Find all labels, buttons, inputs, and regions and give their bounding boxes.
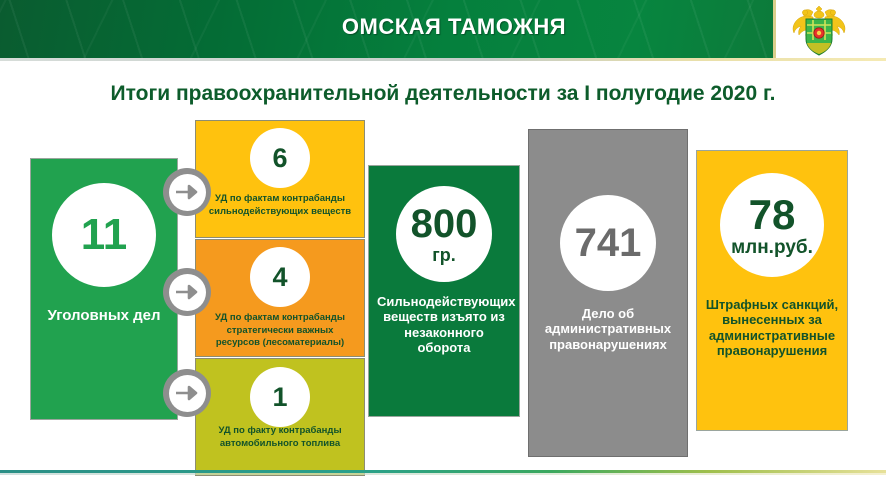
stat-value-administrative-cases: 741: [575, 223, 642, 263]
stat-card-criminal-cases: 11 Уголовных дел: [30, 158, 178, 420]
stat-value-strategic-resources: 4: [272, 264, 287, 291]
arrow-badge-inner: [169, 174, 206, 211]
stat-caption-potent-substances: УД по фактам контрабанды сильнодействующ…: [204, 193, 356, 218]
stat-card-administrative-cases: 741 Дело об административных правонаруше…: [528, 129, 688, 457]
stat-unit-fines: млн.руб.: [731, 238, 813, 257]
russian-customs-emblem-icon: [786, 2, 852, 60]
header-divider: [0, 58, 886, 61]
stat-card-seized-substances: 800 гр. Сильнодействующих веществ изъято…: [368, 165, 520, 417]
stat-card-vehicle-fuel: 1 УД по факту контрабанды автомобильного…: [195, 358, 365, 476]
stat-circle-vehicle-fuel: 1: [250, 367, 310, 427]
stat-caption-criminal-cases: Уголовных дел: [39, 307, 169, 325]
stat-circle-fines: 78 млн.руб.: [720, 173, 824, 277]
stat-card-potent-substances: 6 УД по фактам контрабанды сильнодейству…: [195, 120, 365, 238]
arrow-right-icon: [163, 369, 211, 417]
stat-value-criminal-cases: 11: [81, 213, 128, 257]
page-title: ОМСКАЯ ТАМОЖНЯ: [0, 14, 886, 40]
stat-caption-administrative-cases: Дело об административных правонарушениях: [537, 306, 679, 352]
arrow-badge-inner: [169, 375, 206, 412]
stat-circle-strategic-resources: 4: [250, 247, 310, 307]
stat-value-fines: 78: [749, 194, 796, 236]
stat-circle-criminal-cases: 11: [52, 183, 156, 287]
stat-caption-fines: Штрафных санкций, вынесенных за админист…: [705, 297, 839, 358]
footer-divider-secondary: [0, 473, 886, 475]
stat-value-vehicle-fuel: 1: [272, 384, 287, 411]
stat-value-seized-substances: 800: [411, 204, 478, 244]
stat-caption-vehicle-fuel: УД по факту контрабанды автомобильного т…: [204, 425, 356, 450]
report-subtitle: Итоги правоохранительной деятельности за…: [0, 82, 886, 106]
arrow-right-icon: [163, 268, 211, 316]
page-header: ОМСКАЯ ТАМОЖНЯ: [0, 0, 886, 62]
stat-unit-seized-substances: гр.: [432, 246, 456, 264]
stat-caption-strategic-resources: УД по фактам контрабанды стратегически в…: [204, 312, 356, 350]
stat-circle-seized-substances: 800 гр.: [396, 186, 492, 282]
stat-value-potent-substances: 6: [272, 145, 287, 172]
stat-circle-administrative-cases: 741: [560, 195, 656, 291]
stat-caption-seized-substances: Сильнодействующих веществ изъято из неза…: [377, 294, 511, 355]
arrow-right-icon: [163, 168, 211, 216]
arrow-badge-inner: [169, 274, 206, 311]
stat-card-strategic-resources: 4 УД по фактам контрабанды стратегически…: [195, 239, 365, 357]
stat-card-fines: 78 млн.руб. Штрафных санкций, вынесенных…: [696, 150, 848, 431]
stat-circle-potent-substances: 6: [250, 128, 310, 188]
